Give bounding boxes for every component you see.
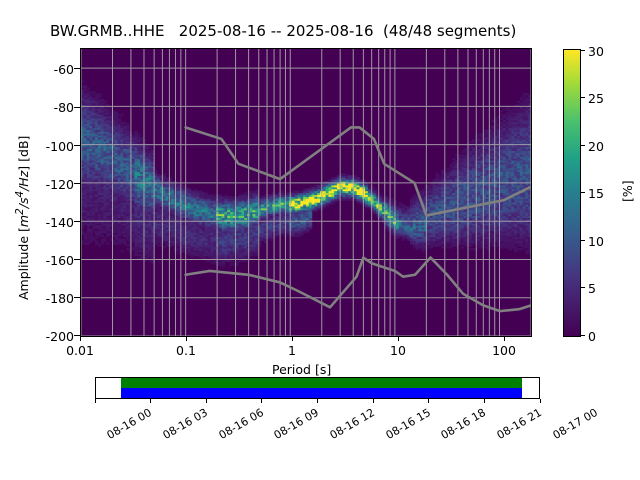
- colorbar-tick-label: 30: [588, 44, 604, 59]
- timeline-tick-label: 08-16 03: [161, 406, 210, 442]
- y-tick-label: -120: [28, 177, 74, 192]
- colorbar: [563, 49, 581, 337]
- timeline-tick-mark: [150, 399, 151, 403]
- timeline-tick-label: 08-16 18: [439, 406, 488, 442]
- colorbar-tick-mark: [580, 97, 585, 98]
- timeline-tick-label: 08-16 06: [217, 406, 266, 442]
- colorbar-tick-label: 20: [588, 139, 604, 154]
- timeline-tick-mark: [206, 399, 207, 403]
- colorbar-tick-mark: [580, 50, 585, 51]
- timeline-bar-data-coverage: [121, 378, 522, 388]
- timeline-tick-mark: [484, 399, 485, 403]
- timeline-tick-label: 08-16 15: [384, 406, 433, 442]
- colorbar-tick-label: 0: [588, 329, 596, 344]
- colorbar-tick-label: 15: [588, 186, 604, 201]
- x-tick-mark: [398, 336, 399, 341]
- y-tick-label: -180: [28, 291, 74, 306]
- x-tick-label: 0.1: [156, 343, 216, 358]
- x-tick-label: 0.01: [50, 343, 110, 358]
- colorbar-tick-mark: [580, 192, 585, 193]
- ppsd-density-canvas: [81, 49, 531, 336]
- ppsd-plot-area: [80, 48, 532, 337]
- x-tick-label: 10: [368, 343, 428, 358]
- y-tick-label: -140: [28, 215, 74, 230]
- x-tick-label: 1: [262, 343, 322, 358]
- ppsd-figure: BW.GRMB..HHE 2025-08-16 -- 2025-08-16 (4…: [0, 0, 640, 480]
- y-tick-label: -60: [28, 62, 74, 77]
- colorbar-tick-mark: [580, 240, 585, 241]
- timeline-tick-mark: [428, 399, 429, 403]
- timeline-tick-mark: [261, 399, 262, 403]
- colorbar-tick-mark: [580, 287, 585, 288]
- x-tick-mark: [186, 336, 187, 341]
- y-tick-label: -200: [28, 329, 74, 344]
- x-tick-mark: [292, 336, 293, 341]
- timeline-tick-label: 08-16 09: [272, 406, 321, 442]
- y-tick-label: -80: [28, 100, 74, 115]
- timeline-tick-label: 08-16 00: [105, 406, 154, 442]
- colorbar-tick-mark: [580, 145, 585, 146]
- page-title: BW.GRMB..HHE 2025-08-16 -- 2025-08-16 (4…: [50, 22, 516, 40]
- timeline-tick-label: 08-16 12: [328, 406, 377, 442]
- colorbar-label: [%]: [620, 180, 635, 202]
- timeline-tick-label: 08-17 00: [551, 406, 600, 442]
- y-tick-label: -160: [28, 253, 74, 268]
- timeline-tick-mark: [540, 399, 541, 403]
- timeline-bar-psd-segments: [121, 388, 522, 398]
- x-tick-label: 100: [474, 343, 534, 358]
- colorbar-tick-label: 10: [588, 234, 604, 249]
- timeline-tick-mark: [95, 399, 96, 403]
- colorbar-tick-mark: [580, 335, 585, 336]
- x-tick-mark: [80, 336, 81, 341]
- colorbar-tick-label: 25: [588, 91, 604, 106]
- x-axis-label: Period [s]: [272, 362, 331, 377]
- colorbar-tick-label: 5: [588, 281, 596, 296]
- x-tick-mark: [504, 336, 505, 341]
- y-tick-label: -100: [28, 139, 74, 154]
- timeline-tick-label: 08-16 21: [495, 406, 544, 442]
- timeline-axes: [95, 377, 540, 399]
- timeline-tick-mark: [317, 399, 318, 403]
- timeline-tick-mark: [373, 399, 374, 403]
